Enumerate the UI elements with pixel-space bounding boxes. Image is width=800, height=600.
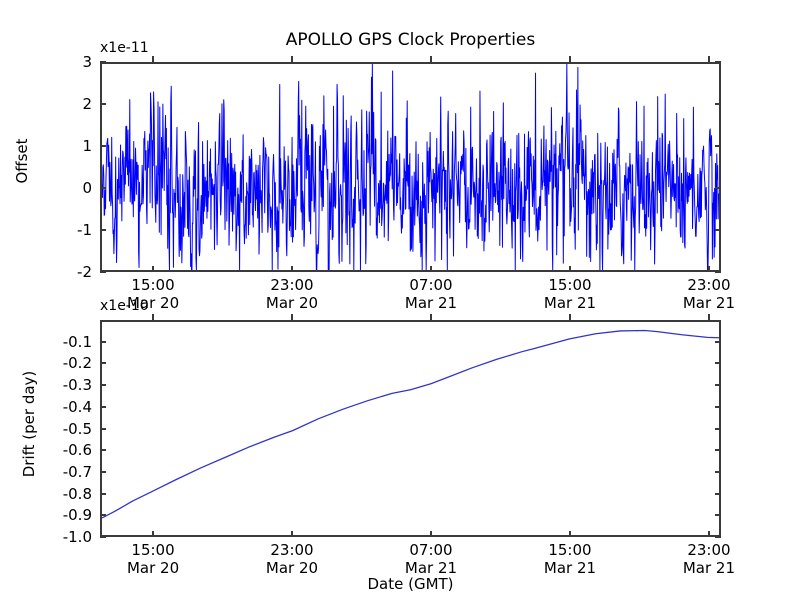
offset-xtick-mark-top	[291, 56, 293, 62]
offset-xtick-time: 15:00	[127, 276, 179, 294]
offset-xtick-label: 07:00Mar 21	[405, 276, 457, 312]
offset-ytick-mark	[100, 145, 106, 147]
offset-xtick-label: 15:00Mar 21	[544, 276, 596, 312]
drift-ytick-label: -0.6	[63, 441, 92, 459]
drift-xtick-time: 23:00	[683, 541, 735, 559]
offset-xtick-time: 15:00	[544, 276, 596, 294]
drift-xtick-time: 23:00	[266, 541, 318, 559]
offset-xtick-date: Mar 21	[683, 294, 735, 312]
drift-ytick-mark-right	[715, 406, 721, 408]
drift-ytick-mark	[100, 362, 106, 364]
drift-ytick-label: -0.8	[63, 485, 92, 503]
offset-xtick-time: 23:00	[683, 276, 735, 294]
drift-xtick-time: 07:00	[405, 541, 457, 559]
offset-series-line	[102, 64, 719, 270]
drift-xtick-label: 23:00Mar 20	[266, 541, 318, 577]
offset-ytick-label: -1	[77, 221, 92, 239]
drift-xtick-mark	[291, 531, 293, 537]
drift-ytick-mark-right	[715, 362, 721, 364]
offset-ytick-mark-right	[715, 271, 721, 273]
drift-ytick-mark	[100, 384, 106, 386]
drift-xtick-mark	[569, 531, 571, 537]
offset-ytick-label: 0	[82, 179, 92, 197]
offset-y-tick-labels: -2-10123	[32, 62, 92, 272]
drift-xtick-mark	[430, 531, 432, 537]
figure-title: APOLLO GPS Clock Properties	[100, 30, 721, 50]
offset-xtick-label: 23:00Mar 20	[266, 276, 318, 312]
drift-ytick-mark-right	[715, 384, 721, 386]
drift-ytick-label: -0.4	[63, 398, 92, 416]
offset-xtick-date: Mar 21	[544, 294, 596, 312]
offset-xtick-date: Mar 21	[405, 294, 457, 312]
drift-xtick-label: 15:00Mar 21	[544, 541, 596, 577]
drift-ytick-mark-right	[715, 449, 721, 451]
offset-plot-area	[100, 62, 721, 272]
drift-ytick-label: -1.0	[63, 528, 92, 546]
drift-y-exponent-label: x1e-10	[100, 298, 149, 314]
offset-ytick-mark-right	[715, 187, 721, 189]
drift-ytick-label: -0.7	[63, 463, 92, 481]
offset-xtick-mark	[430, 266, 432, 272]
drift-y-tick-labels: -1.0-0.9-0.8-0.7-0.6-0.5-0.4-0.3-0.2-0.1	[32, 320, 92, 537]
drift-plot-area	[100, 320, 721, 537]
drift-ytick-mark-right	[715, 428, 721, 430]
matplotlib-figure: APOLLO GPS Clock Properties x1e-11 -2-10…	[0, 0, 800, 600]
offset-ytick-mark	[100, 187, 106, 189]
drift-ytick-label: -0.9	[63, 506, 92, 524]
drift-ytick-mark	[100, 471, 106, 473]
offset-xtick-label: 23:00Mar 21	[683, 276, 735, 312]
drift-ytick-mark-right	[715, 536, 721, 538]
drift-ytick-mark-right	[715, 471, 721, 473]
offset-ytick-label: 2	[82, 95, 92, 113]
offset-xtick-mark-top	[708, 56, 710, 62]
offset-xtick-date: Mar 20	[266, 294, 318, 312]
drift-ytick-mark	[100, 428, 106, 430]
drift-ytick-mark	[100, 449, 106, 451]
drift-xtick-mark-top	[291, 314, 293, 320]
offset-ytick-mark	[100, 271, 106, 273]
offset-xtick-time: 07:00	[405, 276, 457, 294]
drift-xtick-mark	[708, 531, 710, 537]
drift-xtick-label: 23:00Mar 21	[683, 541, 735, 577]
offset-xtick-mark	[708, 266, 710, 272]
offset-xtick-mark-top	[152, 56, 154, 62]
drift-ytick-mark	[100, 536, 106, 538]
drift-ytick-mark-right	[715, 493, 721, 495]
drift-series-line	[102, 322, 719, 535]
offset-ytick-mark	[100, 61, 106, 63]
offset-y-axis-label: Offset	[13, 101, 31, 221]
drift-xtick-time: 15:00	[544, 541, 596, 559]
drift-ytick-mark	[100, 406, 106, 408]
offset-ytick-mark-right	[715, 61, 721, 63]
drift-ytick-label: -0.5	[63, 420, 92, 438]
offset-ytick-mark-right	[715, 103, 721, 105]
drift-ytick-mark-right	[715, 341, 721, 343]
offset-xtick-mark	[152, 266, 154, 272]
offset-ytick-label: -2	[77, 263, 92, 281]
offset-ytick-label: 3	[82, 53, 92, 71]
drift-xtick-label: 07:00Mar 21	[405, 541, 457, 577]
offset-ytick-mark-right	[715, 229, 721, 231]
drift-ytick-label: -0.1	[63, 333, 92, 351]
drift-ytick-mark-right	[715, 514, 721, 516]
drift-ytick-label: -0.2	[63, 354, 92, 372]
offset-xtick-mark-top	[569, 56, 571, 62]
drift-xtick-mark-top	[152, 314, 154, 320]
offset-ytick-mark-right	[715, 145, 721, 147]
drift-xtick-mark-top	[430, 314, 432, 320]
offset-y-exponent-label: x1e-11	[100, 40, 149, 56]
drift-ytick-mark	[100, 514, 106, 516]
offset-xtick-time: 23:00	[266, 276, 318, 294]
offset-ytick-label: 1	[82, 137, 92, 155]
offset-xtick-mark	[569, 266, 571, 272]
drift-xtick-time: 15:00	[127, 541, 179, 559]
offset-ytick-mark	[100, 229, 106, 231]
offset-xtick-mark	[291, 266, 293, 272]
offset-xtick-mark-top	[430, 56, 432, 62]
drift-xtick-mark-top	[569, 314, 571, 320]
drift-x-axis-label: Date (GMT)	[100, 575, 721, 593]
drift-xtick-mark	[152, 531, 154, 537]
drift-xtick-mark-top	[708, 314, 710, 320]
offset-ytick-mark	[100, 103, 106, 105]
drift-ytick-mark	[100, 493, 106, 495]
drift-ytick-label: -0.3	[63, 376, 92, 394]
drift-xtick-label: 15:00Mar 20	[127, 541, 179, 577]
drift-y-axis-label: Drift (per day)	[20, 344, 38, 504]
drift-ytick-mark	[100, 341, 106, 343]
